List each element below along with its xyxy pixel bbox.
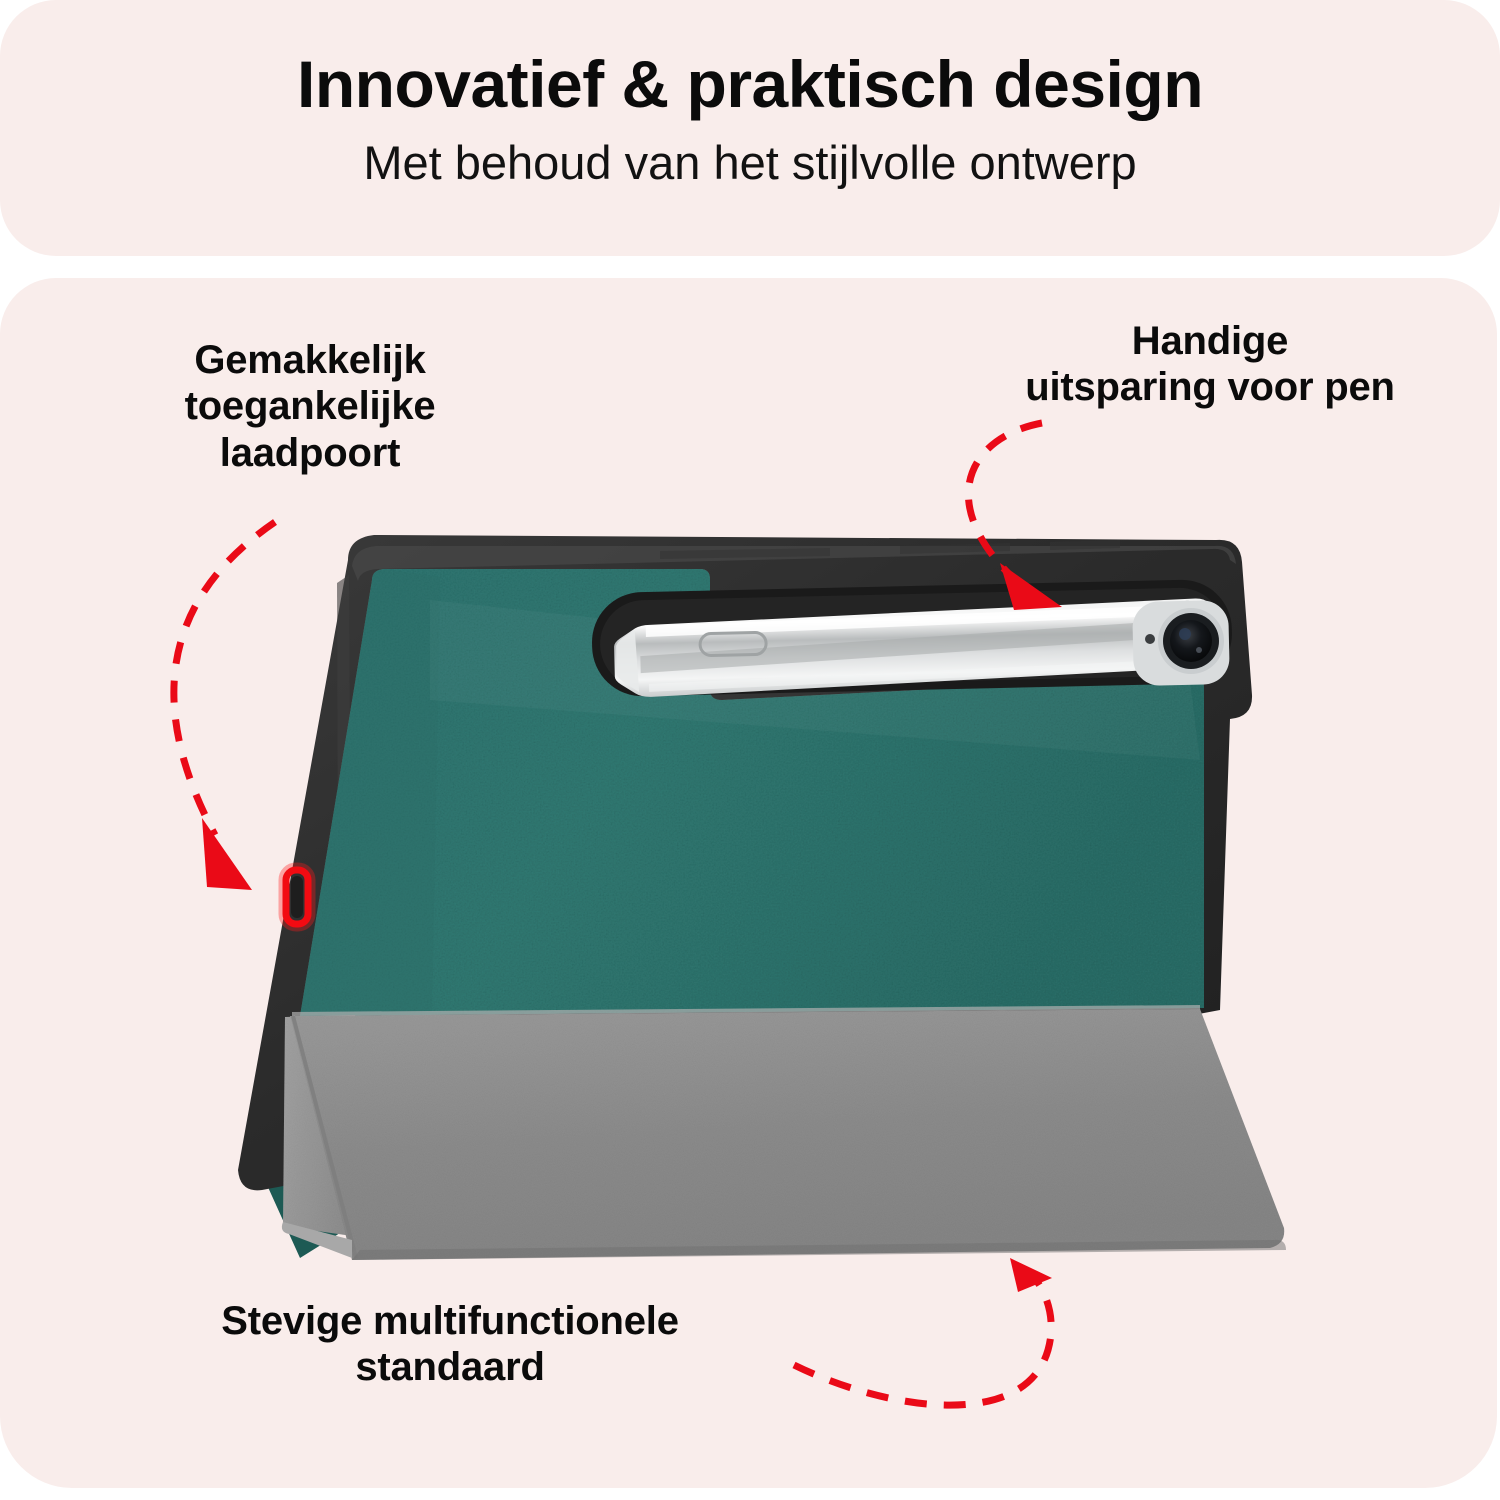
grey-kickstand (282, 1007, 1286, 1260)
callout-pen-slot-label: Handige uitsparing voor pen (930, 318, 1490, 411)
camera-lens (1132, 600, 1230, 686)
callout-line: laadpoort (100, 430, 520, 476)
callout-line: standaard (110, 1344, 790, 1390)
infographic-canvas: Innovatief & praktisch design Met behoud… (0, 0, 1500, 1500)
callout-line: Gemakkelijk (100, 337, 520, 383)
callout-line: uitsparing voor pen (930, 364, 1490, 410)
callout-line: toegankelijke (100, 383, 520, 429)
callout-line: Stevige multifunctionele (110, 1298, 790, 1344)
product-image-tablet-case (0, 0, 1500, 1500)
callout-line: Handige (930, 318, 1490, 364)
teal-fold-wedge (292, 1014, 356, 1252)
callout-charging-port-label: Gemakkelijk toegankelijke laadpoort (100, 337, 520, 476)
charging-port-highlight[interactable] (284, 868, 310, 926)
callout-stand-label: Stevige multifunctionele standaard (110, 1298, 790, 1391)
